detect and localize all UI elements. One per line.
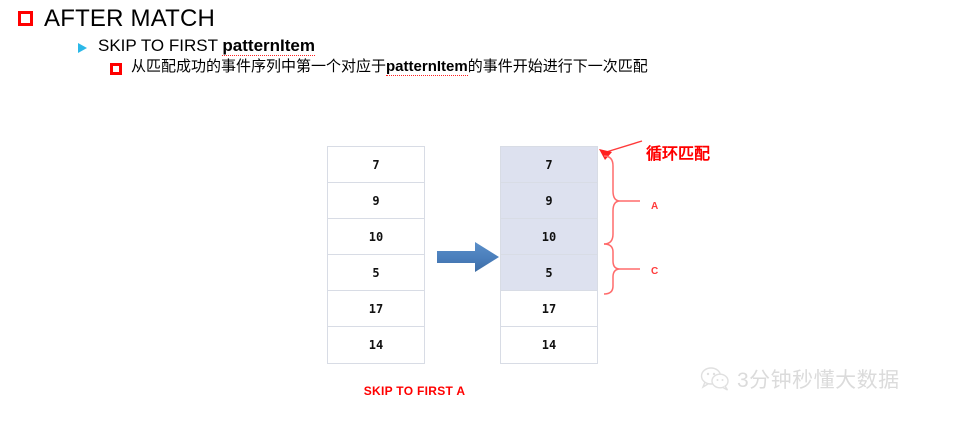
watermark: 3分钟秒懂大数据 [700, 364, 900, 394]
table-row: 7 [501, 147, 597, 183]
table-row: 7 [328, 147, 424, 183]
brace-a-label: A [651, 201, 658, 212]
table-row: 9 [328, 183, 424, 219]
brace-c [604, 244, 620, 294]
table-row: 10 [501, 219, 597, 255]
table-row: 14 [501, 327, 597, 363]
table-row: 5 [328, 255, 424, 291]
table-row: 17 [501, 291, 597, 327]
after-match-diagram: 791051714 791051714 A C 循环匹配 SKIP TO FIR… [0, 0, 967, 423]
table-row: 10 [328, 219, 424, 255]
pointer-line [603, 141, 642, 153]
event-sequence-before-table: 791051714 [327, 146, 425, 364]
table-row: 17 [328, 291, 424, 327]
brace-a [604, 156, 620, 244]
brace-c-label: C [651, 266, 658, 277]
table-row: 14 [328, 327, 424, 363]
skip-to-first-caption: SKIP TO FIRST A [327, 384, 502, 398]
table-row: 5 [501, 255, 597, 291]
right-arrow-icon [437, 240, 503, 280]
table-row: 9 [501, 183, 597, 219]
event-sequence-after-table: 791051714 [500, 146, 598, 364]
watermark-text: 3分钟秒懂大数据 [737, 364, 900, 394]
wechat-icon [700, 366, 730, 392]
loop-match-caption: 循环匹配 [646, 140, 710, 164]
